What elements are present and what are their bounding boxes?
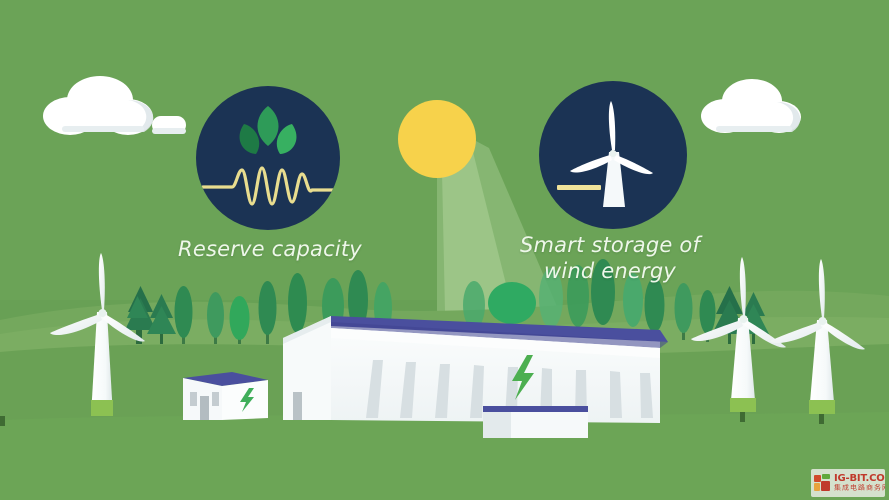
sun bbox=[398, 100, 476, 178]
watermark-text: IG-BIT.COM 集成电路商务网 bbox=[834, 474, 885, 492]
infographic-canvas: Reserve capacity Smart storage of wind e… bbox=[0, 0, 889, 500]
battery-storage-warehouse bbox=[283, 316, 668, 423]
platform-body-shade bbox=[483, 412, 511, 438]
warehouse-door bbox=[293, 392, 302, 420]
turbine-hub bbox=[740, 315, 748, 323]
tree bbox=[623, 273, 643, 327]
watermark-domain: IG-BIT.COM bbox=[834, 474, 885, 484]
cloud-shade bbox=[62, 126, 144, 132]
turbine-foot bbox=[819, 414, 824, 424]
tree bbox=[567, 265, 589, 327]
small-house bbox=[183, 372, 268, 420]
turbine-base-band bbox=[91, 400, 113, 416]
turbine-hub bbox=[819, 317, 827, 325]
house-window bbox=[212, 392, 219, 406]
front-platform bbox=[483, 406, 588, 438]
watermark: IG-BIT.COM 集成电路商务网 bbox=[811, 469, 885, 497]
watermark-subtitle: 集成电路商务网 bbox=[834, 485, 885, 491]
house-window bbox=[190, 392, 197, 406]
cloud-shade bbox=[152, 128, 186, 134]
turbine-foot bbox=[740, 412, 745, 422]
turbine-hub bbox=[99, 309, 107, 317]
turbine-base-band bbox=[730, 398, 756, 412]
house-door bbox=[200, 396, 209, 420]
turbine-base-band bbox=[809, 400, 835, 414]
badge-reserve-capacity bbox=[196, 86, 340, 230]
scene-illustration bbox=[0, 0, 889, 500]
icon-yellow-bar bbox=[557, 185, 601, 190]
turbine-foot bbox=[0, 416, 5, 426]
tree bbox=[488, 282, 536, 324]
badge-smart-storage bbox=[539, 81, 687, 229]
cloud-shade bbox=[716, 126, 792, 132]
tree bbox=[591, 259, 615, 325]
ground-front-band bbox=[0, 412, 889, 500]
ig-bit-logo-icon bbox=[814, 474, 831, 492]
tree bbox=[539, 268, 563, 328]
icon-turbine-hub bbox=[609, 150, 616, 157]
platform-roof bbox=[483, 406, 588, 412]
cloud-small-left bbox=[152, 116, 186, 134]
